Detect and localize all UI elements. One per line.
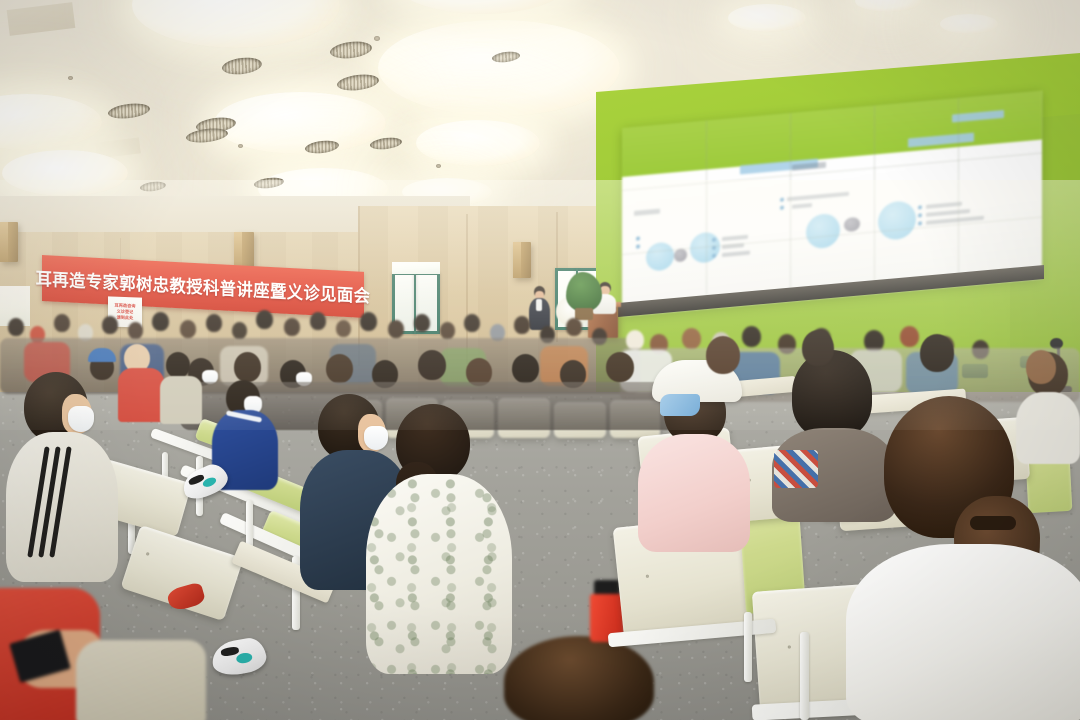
hair-tie [970, 516, 1016, 530]
child-torso [160, 376, 202, 424]
video-wall-seam [790, 113, 791, 301]
video-wall-seam [874, 105, 875, 293]
audience-torso [638, 434, 750, 552]
slide-head-icon [844, 217, 860, 232]
audience-torso [366, 474, 512, 674]
audience-head [920, 334, 954, 372]
audience-head [310, 312, 326, 330]
slide-body-text [926, 209, 970, 217]
slide-circle [806, 213, 840, 250]
window-upper-left [392, 262, 440, 274]
video-wall-seam [958, 98, 959, 286]
audience-child-cluster [88, 336, 208, 426]
child-head [504, 636, 654, 720]
slide-bullet [780, 206, 784, 210]
child-cap [88, 348, 116, 362]
slide-bullet [636, 236, 640, 240]
slide-circle [646, 241, 674, 271]
slide-bullet [780, 198, 784, 202]
slide-bullet [918, 205, 922, 209]
audience-head [706, 336, 740, 374]
ceiling-light [940, 14, 998, 34]
ceiling-sprinkler [436, 164, 441, 168]
hair-bow [660, 394, 700, 416]
audience-head [1026, 350, 1056, 384]
audience-person-pink [638, 360, 758, 550]
slide-circle [878, 200, 916, 241]
audience-person-floral [366, 404, 512, 674]
audience-torso [1016, 392, 1080, 464]
audience-head [802, 330, 834, 366]
audience-head [8, 318, 24, 336]
ceiling-light [728, 4, 806, 32]
slide-body-text [722, 251, 750, 257]
audience-head [512, 354, 539, 383]
audience-head [102, 316, 118, 334]
lecture-hall-photo: 耳再造专家郭树忠教授科普讲座暨义诊见面会 耳再造咨询 义诊登记 请到此处 [0, 0, 1080, 720]
slide-bullet [918, 221, 922, 225]
audience-head [234, 352, 261, 382]
audience-head [256, 310, 273, 329]
slide-label [634, 209, 660, 216]
ceiling-sprinkler [238, 144, 243, 148]
child-torso [118, 368, 164, 422]
audience-head [152, 312, 169, 331]
audience-head [360, 312, 377, 331]
audience-lap [76, 640, 206, 720]
slide-body-text [722, 235, 748, 241]
audience-head [418, 350, 446, 380]
seat-leg [744, 612, 752, 682]
slide-head-icon [674, 248, 687, 262]
audience-torso [846, 544, 1080, 720]
video-wall-seam [706, 120, 707, 308]
slide-body-text [787, 192, 849, 202]
ceiling-light [378, 20, 620, 116]
ceiling-sprinkler [374, 36, 380, 41]
ceiling-light [416, 120, 540, 166]
child-head [166, 352, 190, 378]
audience-head [54, 314, 70, 332]
audience-child-front [498, 636, 670, 720]
slide-bullet [918, 213, 922, 217]
wall-speaker [513, 242, 531, 278]
pattern-bag [774, 450, 818, 488]
slide-body-text [926, 202, 962, 209]
audience-head-row-right [620, 330, 1080, 380]
ceiling-light [2, 150, 128, 196]
slide-bullet [636, 244, 640, 248]
seat-leg [800, 632, 809, 720]
slide-body-text [792, 203, 812, 209]
audience-head [326, 354, 353, 383]
ceiling-sprinkler [68, 76, 73, 80]
wall-speaker [0, 222, 18, 262]
